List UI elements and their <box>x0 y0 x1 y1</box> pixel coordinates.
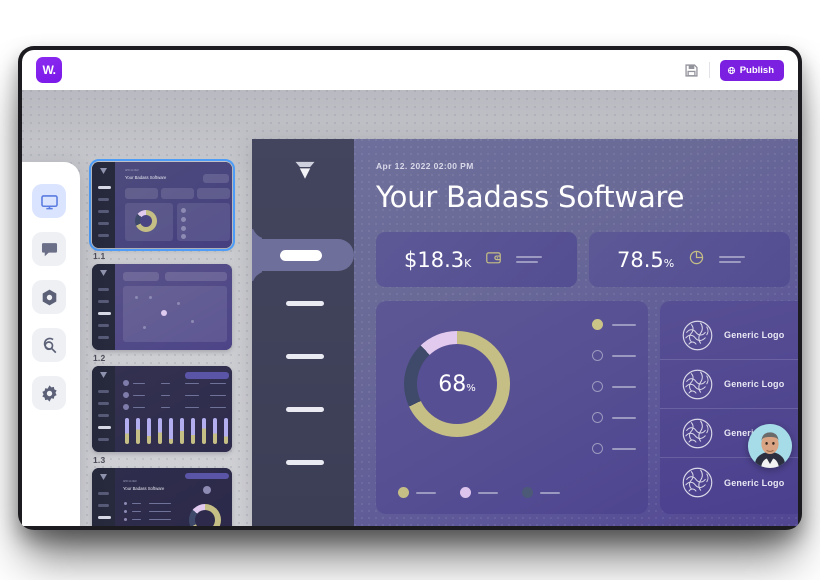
donut-center-value: 68% <box>438 372 476 397</box>
donut-chart-panel[interactable]: 68% <box>376 301 648 514</box>
sidebar-item-comments[interactable] <box>32 232 66 266</box>
legend-placeholder-line <box>612 448 636 450</box>
revenue-stat-placeholder <box>516 256 542 263</box>
legend-item[interactable] <box>592 443 636 454</box>
gear-icon <box>40 384 59 403</box>
footer-legend-line <box>478 492 498 494</box>
footer-legend-line <box>416 492 436 494</box>
browser-window: W. Publish <box>18 46 802 530</box>
toolbar-divider <box>709 62 710 78</box>
donut-footer-legend <box>398 487 560 498</box>
swirl-logo-icon <box>682 369 713 400</box>
thumb-nav-item <box>98 198 109 201</box>
thumbnail-item[interactable]: 1.2 <box>92 264 252 363</box>
legend-dot <box>592 350 603 361</box>
slide-thumbnail-3[interactable] <box>92 366 232 452</box>
swirl-logo-icon <box>682 418 713 449</box>
thumbnail-label: 1.1 <box>93 251 252 261</box>
rate-stat[interactable]: 78.5% <box>589 232 790 287</box>
thumb-nav-item <box>98 186 111 189</box>
canvas-nav-item[interactable] <box>286 407 324 412</box>
legend-dot <box>592 319 603 330</box>
search-icon <box>40 336 59 355</box>
legend-placeholder-line <box>612 417 636 419</box>
legend-placeholder-line <box>612 355 636 357</box>
editor-workspace: APR 12 2022 Your Badass Software <box>22 90 798 526</box>
canvas-nav-item[interactable] <box>286 460 324 465</box>
canvas-content: Apr 12. 2022 02:00 PM Your Badass Softwa… <box>354 139 798 526</box>
nav-notch-bottom <box>252 271 268 287</box>
nav-notch-top <box>252 223 268 239</box>
publish-button[interactable]: Publish <box>720 60 784 81</box>
legend-placeholder-line <box>612 386 636 388</box>
list-item-label: Generic Logo <box>724 478 784 488</box>
list-item[interactable]: Generic Logo <box>660 311 798 360</box>
save-icon[interactable] <box>684 63 699 78</box>
chat-bubble-icon <box>40 240 59 259</box>
stat-card-row: $18.3K 78.5% <box>376 232 798 287</box>
legend-item[interactable] <box>592 412 636 423</box>
slide-canvas[interactable]: Apr 12. 2022 02:00 PM Your Badass Softwa… <box>252 139 798 526</box>
footer-legend-dot <box>398 487 409 498</box>
legend-dot <box>592 381 603 392</box>
pie-chart-icon <box>688 249 705 271</box>
legend-item[interactable] <box>592 350 636 361</box>
legend-dot <box>592 443 603 454</box>
sidebar-item-search[interactable] <box>32 328 66 362</box>
legend-placeholder-line <box>612 324 636 326</box>
sidebar-item-components[interactable] <box>32 280 66 314</box>
swirl-logo-icon <box>682 320 713 351</box>
wallet-icon <box>485 249 502 271</box>
sidebar-item-screens[interactable] <box>32 184 66 218</box>
canvas-nav-item[interactable] <box>286 354 324 359</box>
app-toolbar: W. Publish <box>22 50 798 90</box>
list-item[interactable]: Generic Logo <box>660 360 798 409</box>
canvas-date: Apr 12. 2022 02:00 PM <box>376 161 798 171</box>
footer-legend-item[interactable] <box>522 487 560 498</box>
thumbnail-item[interactable]: APR 12 2022 Your Badass Software <box>92 162 252 261</box>
thumb-nav <box>92 162 115 248</box>
slide-thumbnail-1[interactable]: APR 12 2022 Your Badass Software <box>92 162 232 248</box>
hexagon-icon <box>40 288 59 307</box>
rate-stat-value: 78.5% <box>617 248 674 272</box>
tool-rail <box>22 162 80 526</box>
donut-center: 68% <box>417 344 497 424</box>
globe-icon <box>727 66 736 75</box>
footer-legend-item[interactable] <box>460 487 498 498</box>
page-title: Your Badass Software <box>376 180 798 214</box>
canvas-nav-column <box>252 139 354 526</box>
thumbnail-item[interactable]: 1.3 <box>92 366 252 465</box>
thumbnail-label: 1.2 <box>93 353 252 363</box>
thumbnail-label: 1.3 <box>93 455 252 465</box>
slide-thumbnail-strip[interactable]: APR 12 2022 Your Badass Software <box>92 162 252 526</box>
slide-thumbnail-4[interactable]: APR 12 2022 Your Badass Software <box>92 468 232 526</box>
footer-legend-dot <box>522 487 533 498</box>
logo-list-panel: Generic Logo <box>660 301 798 514</box>
screen-icon <box>40 192 59 211</box>
swirl-logo-icon <box>682 467 713 498</box>
legend-item[interactable] <box>592 319 636 330</box>
toolbar-actions: Publish <box>684 60 784 81</box>
legend-item[interactable] <box>592 381 636 392</box>
footer-legend-item[interactable] <box>398 487 436 498</box>
footer-legend-dot <box>460 487 471 498</box>
thumb-nav-item <box>98 222 109 225</box>
donut-chart: 68% <box>404 331 510 437</box>
nav-active-pill <box>280 250 322 261</box>
publish-label: Publish <box>740 65 774 76</box>
list-item-label: Generic Logo <box>724 330 784 340</box>
brand-logo[interactable]: W. <box>36 57 62 83</box>
thumb-logo-icon <box>100 168 107 174</box>
revenue-stat-value: $18.3K <box>404 248 471 272</box>
thumb-body: APR 12 2022 Your Badass Software <box>115 162 232 248</box>
slide-thumbnail-2[interactable] <box>92 264 232 350</box>
lower-panel-row: 68% <box>376 301 798 514</box>
canvas-nav-item[interactable] <box>286 301 324 306</box>
rate-stat-placeholder <box>719 256 745 263</box>
thumb-nav-item <box>98 210 109 213</box>
brand-logo-text: W. <box>43 63 56 77</box>
thumbnail-item[interactable]: APR 12 2022 Your Badass Software <box>92 468 252 526</box>
legend-dot <box>592 412 603 423</box>
funnel-logo-icon <box>294 161 316 180</box>
footer-legend-line <box>540 492 560 494</box>
list-item-label: Generic Logo <box>724 379 784 389</box>
user-avatar[interactable] <box>748 424 792 468</box>
canvas-nav-active-item[interactable] <box>252 239 354 271</box>
thumb-nav-item <box>98 234 109 237</box>
donut-legend <box>592 319 636 454</box>
revenue-stat[interactable]: $18.3K <box>376 232 577 287</box>
sidebar-item-settings[interactable] <box>32 376 66 410</box>
avatar-photo <box>748 424 792 468</box>
